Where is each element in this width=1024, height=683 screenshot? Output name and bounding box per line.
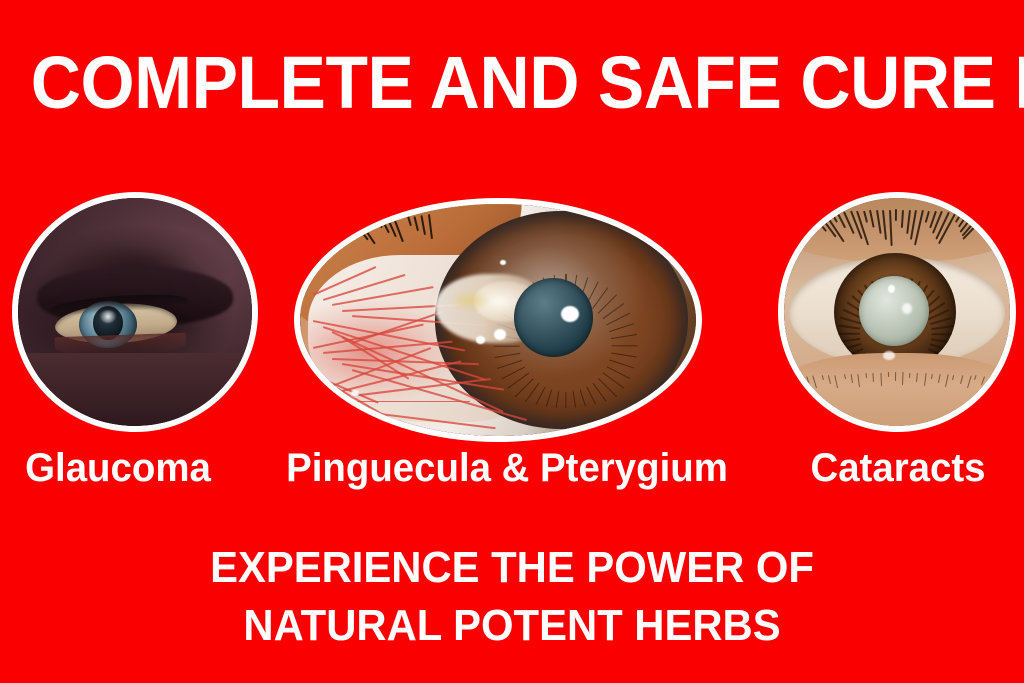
tear-highlight-4 xyxy=(351,390,359,397)
pterygium-eye-photo xyxy=(294,198,702,442)
lens-highlight-1 xyxy=(888,285,895,293)
caption-cataracts: Cataracts xyxy=(783,448,1013,488)
upper-eyelashes xyxy=(793,209,992,259)
pterygium-eye-art xyxy=(300,204,696,436)
tagline-line-2: NATURAL POTENT HERBS xyxy=(26,604,999,648)
pupil xyxy=(514,278,593,357)
glaucoma-eye-art xyxy=(18,198,252,426)
caption-pinguecula-pterygium: Pinguecula & Pterygium xyxy=(268,448,746,488)
tear-highlight-2 xyxy=(476,336,485,343)
cheek-area xyxy=(18,353,252,426)
lower-eyelashes xyxy=(798,358,992,394)
lens-highlight-2 xyxy=(902,303,912,314)
glaucoma-eye-photo xyxy=(12,192,258,432)
promotional-banner: COMPLETE AND SAFE CURE FOR; xyxy=(0,0,1024,683)
eyelashes xyxy=(316,209,451,260)
pinguecula-deposit xyxy=(450,290,490,311)
cataract-eye-photo xyxy=(778,192,1016,432)
tear-highlight-1 xyxy=(494,329,506,339)
tear-highlight xyxy=(883,351,894,360)
tagline-line-1: EXPERIENCE THE POWER OF xyxy=(26,546,999,590)
caption-glaucoma: Glaucoma xyxy=(5,448,232,488)
cataract-eye-art xyxy=(784,198,1010,426)
